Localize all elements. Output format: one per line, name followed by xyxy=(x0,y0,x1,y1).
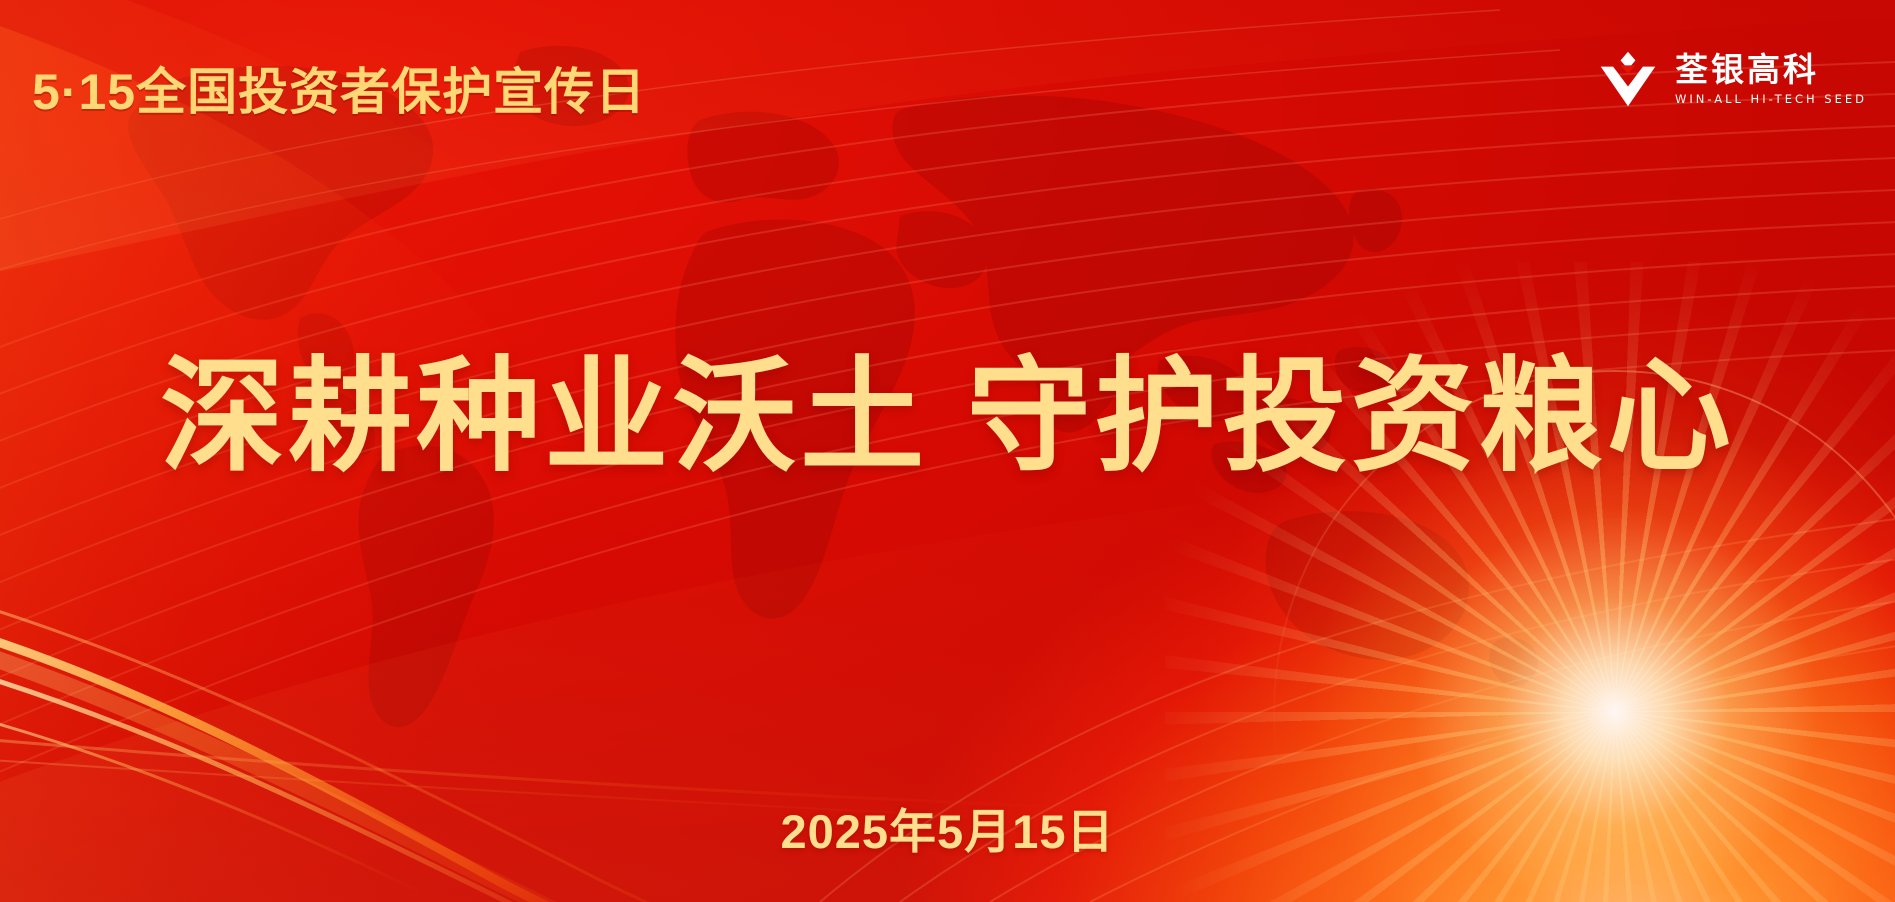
chevron-diamond-icon xyxy=(1597,48,1659,110)
page-title: 5·15全国投资者保护宣传日 xyxy=(32,52,646,124)
logo-name-cn: 荃银高科 xyxy=(1675,52,1867,88)
company-logo: 荃银高科 WIN-ALL HI-TECH SEED xyxy=(1597,48,1867,110)
investor-protection-banner: 5·15全国投资者保护宣传日 荃银高科 WIN-ALL HI-TECH SEED… xyxy=(0,0,1895,902)
event-date: 2025年5月15日 xyxy=(0,793,1895,862)
logo-wordmark: 荃银高科 WIN-ALL HI-TECH SEED xyxy=(1675,52,1867,106)
logo-name-en: WIN-ALL HI-TECH SEED xyxy=(1675,92,1867,106)
main-headline: 深耕种业沃土 守护投资粮心 xyxy=(0,352,1895,483)
